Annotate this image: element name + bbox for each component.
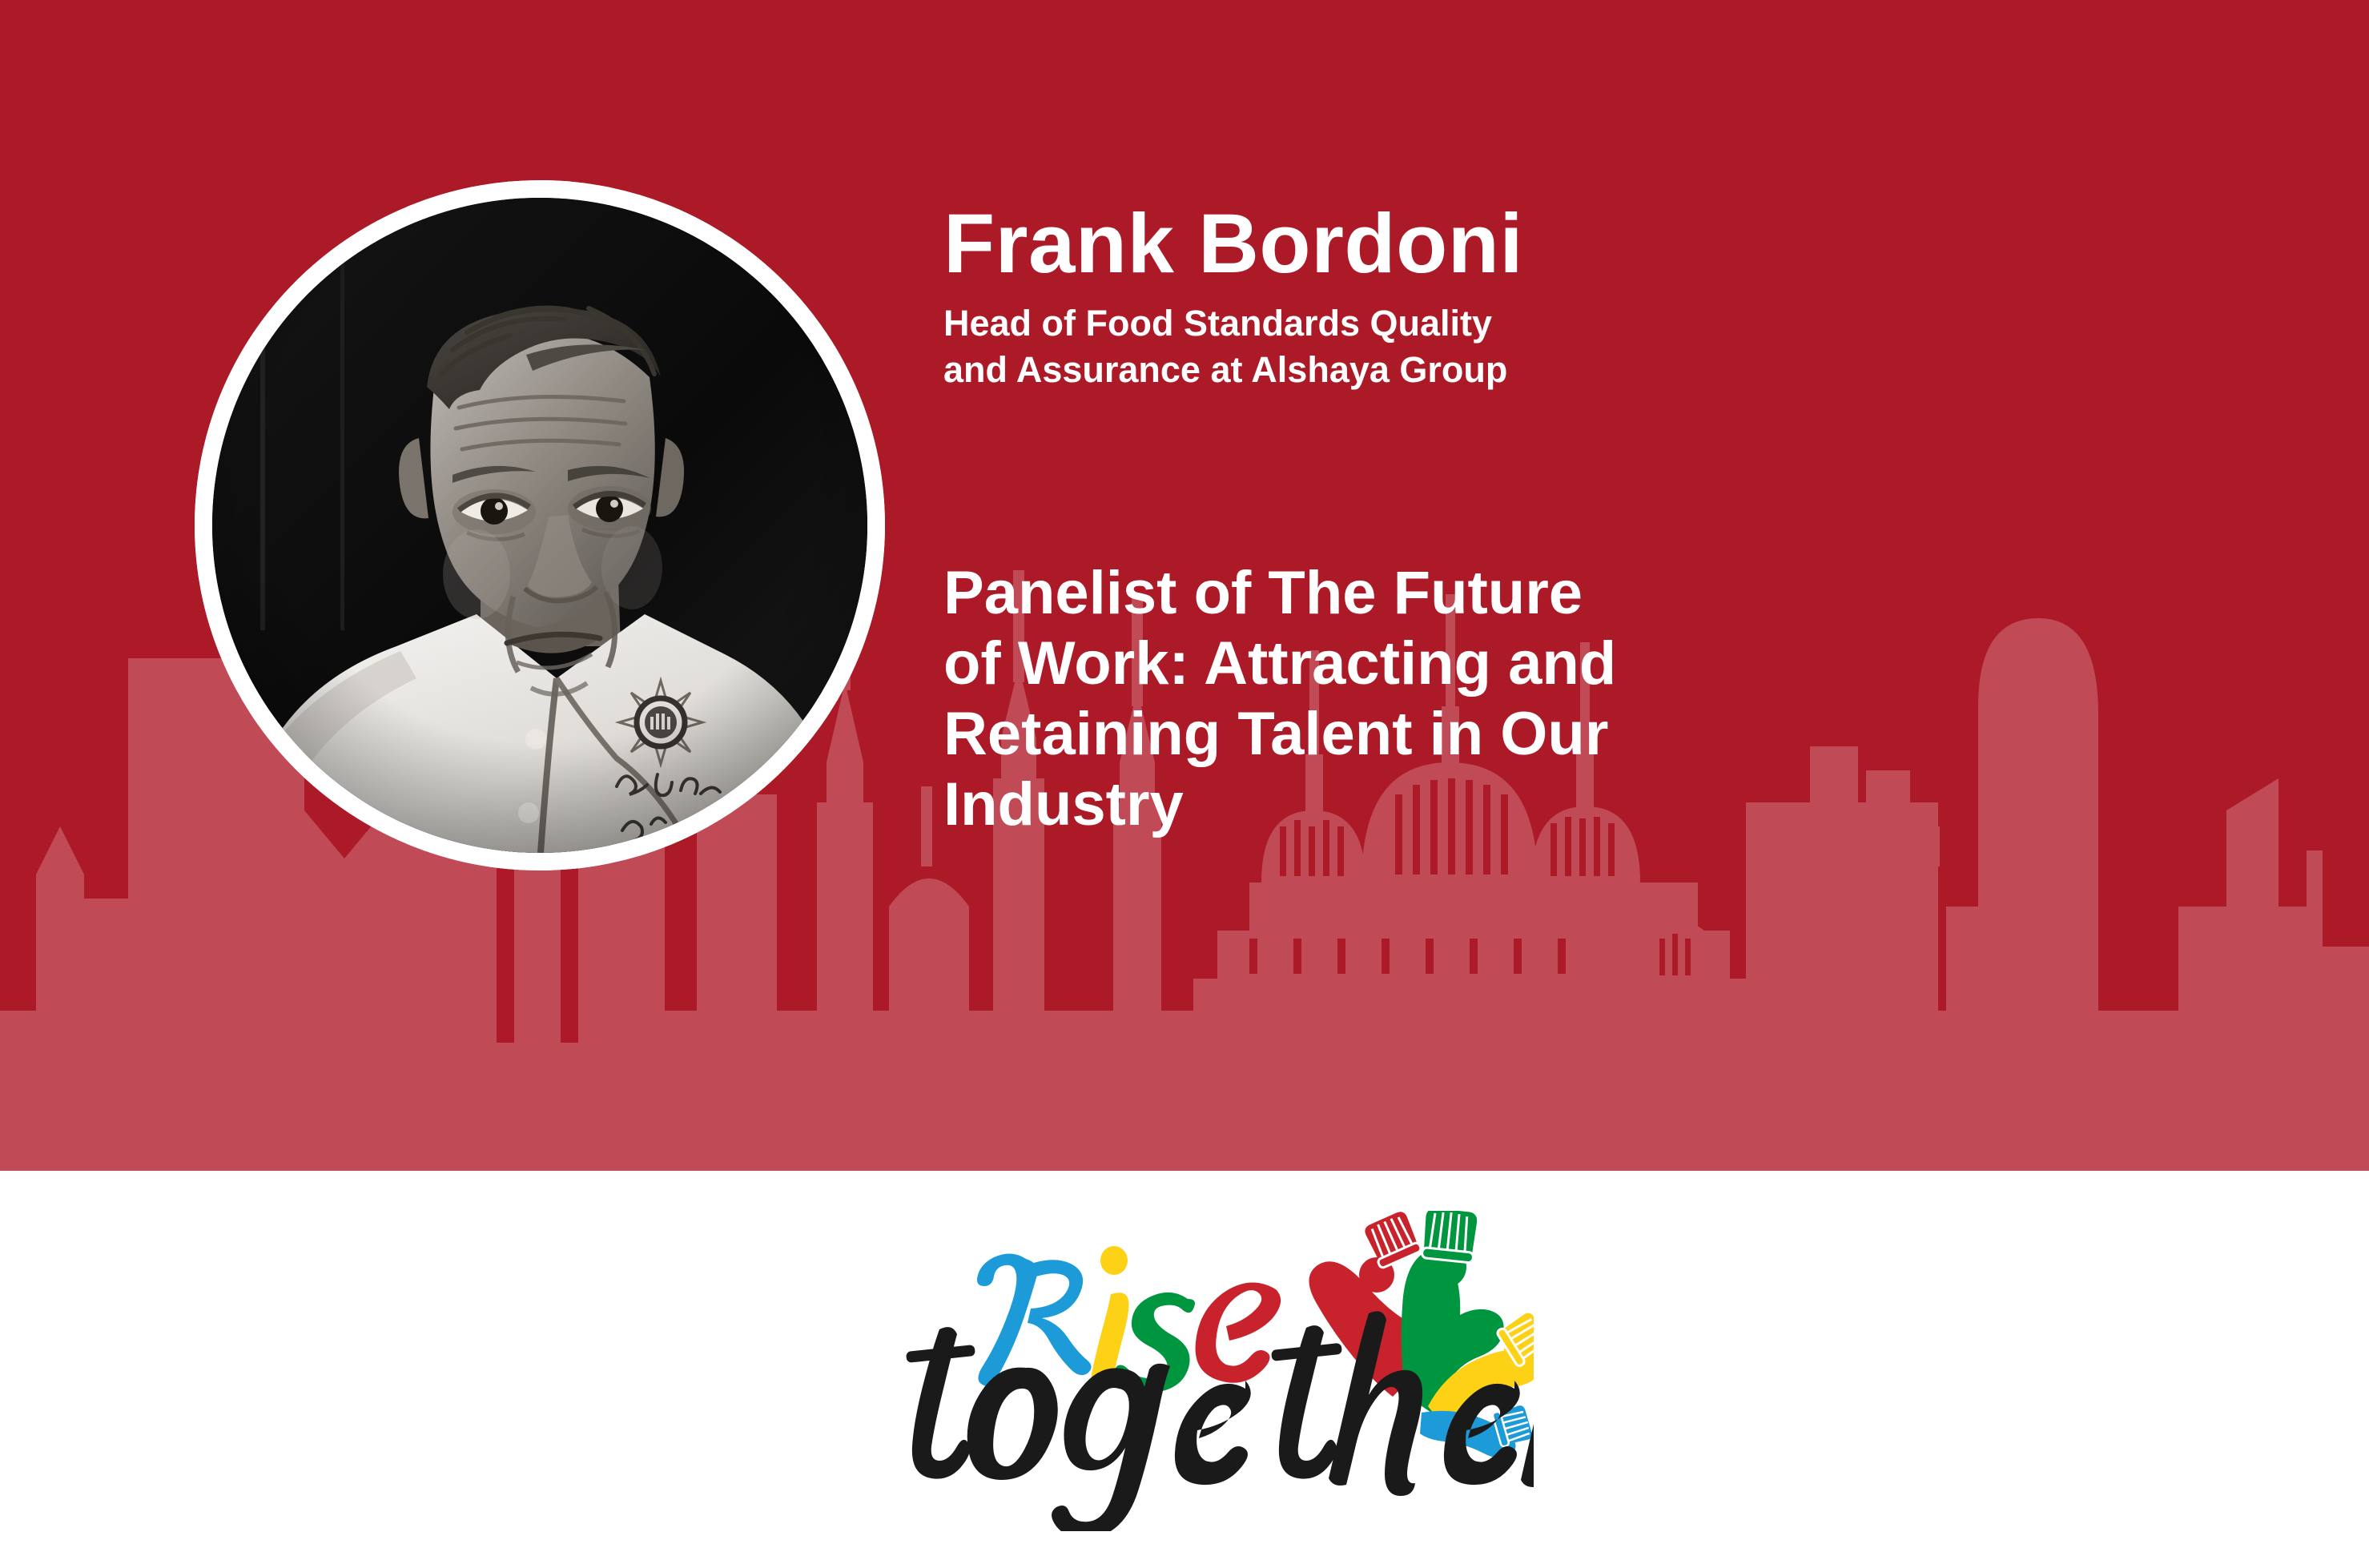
session-title-line-1: Panelist of The Future [943, 558, 2025, 629]
session-title-line-4: Industry [943, 770, 2025, 840]
speaker-role-line-1: Head of Food Standards Quality [943, 300, 1744, 347]
speaker-portrait [195, 180, 885, 870]
speaker-role-line-2: and Assurance at Alshaya Group [943, 347, 1744, 393]
portrait-photo [212, 198, 867, 853]
speaker-role: Head of Food Standards Quality and Assur… [943, 300, 1744, 392]
speaker-announcement-poster: Frank Bordoni Head of Food Standards Qua… [0, 0, 2369, 1568]
session-title-line-3: Retaining Talent in Our [943, 699, 2025, 770]
session-title-line-2: of Work: Attracting and [943, 629, 2025, 699]
footer-panel [0, 1171, 2369, 1568]
session-title: Panelist of The Future of Work: Attracti… [943, 558, 2025, 841]
hero-panel: Frank Bordoni Head of Food Standards Qua… [0, 0, 2369, 1171]
speaker-info-block: Frank Bordoni Head of Food Standards Qua… [943, 202, 2065, 392]
rise-together-logo [869, 1211, 1534, 1531]
speaker-name: Frank Bordoni [943, 202, 2065, 286]
